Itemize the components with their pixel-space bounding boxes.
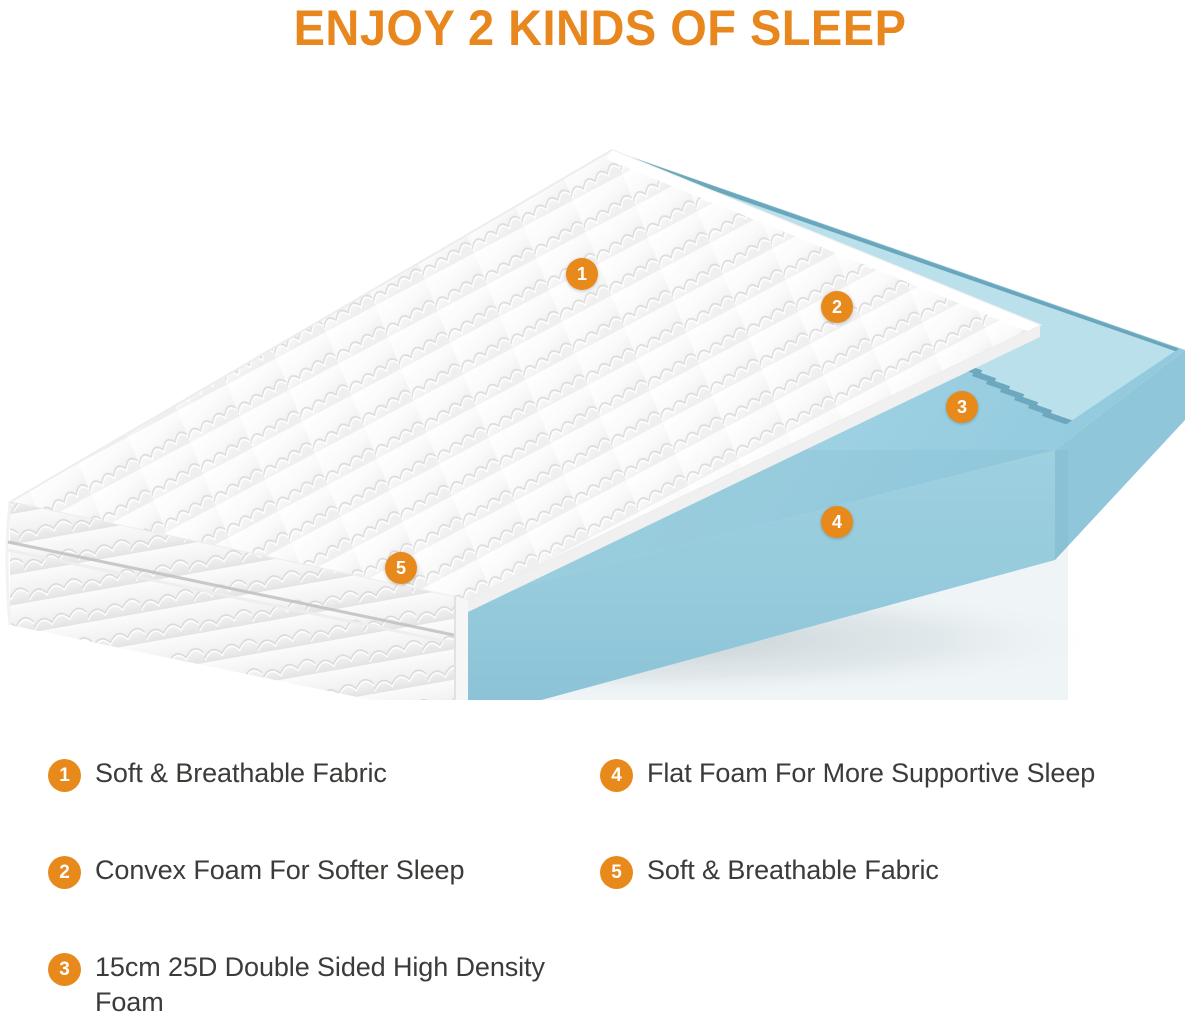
- legend-badge-2: 2: [48, 856, 81, 889]
- callout-badge-5[interactable]: 5: [385, 552, 417, 584]
- mattress-cutaway-svg: [0, 120, 1200, 700]
- legend-badge-3: 3: [48, 953, 81, 986]
- legend-label-2: Convex Foam For Softer Sleep: [95, 853, 464, 888]
- legend-badge-1: 1: [48, 759, 81, 792]
- legend-item-5[interactable]: 5 Soft & Breathable Fabric: [600, 853, 939, 889]
- cover-bottom-edge: [455, 596, 468, 700]
- legend-label-4: Flat Foam For More Supportive Sleep: [647, 756, 1095, 791]
- legend-label-5: Soft & Breathable Fabric: [647, 853, 939, 888]
- mattress-illustration: 1 2 3 4 5: [0, 120, 1200, 700]
- page-title: ENJOY 2 KINDS OF SLEEP: [36, 0, 1164, 56]
- legend: 1 Soft & Breathable Fabric 2 Convex Foam…: [0, 738, 1200, 1020]
- legend-badge-4: 4: [600, 759, 633, 792]
- callout-badge-2[interactable]: 2: [821, 291, 853, 323]
- legend-item-4[interactable]: 4 Flat Foam For More Supportive Sleep: [600, 756, 1095, 792]
- callout-badge-3[interactable]: 3: [946, 391, 978, 423]
- callout-badge-1[interactable]: 1: [566, 258, 598, 290]
- cover-corner-highlight: [7, 502, 10, 625]
- legend-badge-5: 5: [600, 856, 633, 889]
- legend-item-1[interactable]: 1 Soft & Breathable Fabric: [48, 756, 387, 792]
- legend-item-3[interactable]: 3 15cm 25D Double Sided High Density Foa…: [48, 950, 555, 1020]
- legend-item-2[interactable]: 2 Convex Foam For Softer Sleep: [48, 853, 464, 889]
- legend-label-3: 15cm 25D Double Sided High Density Foam: [95, 950, 555, 1020]
- legend-label-1: Soft & Breathable Fabric: [95, 756, 387, 791]
- callout-badge-4[interactable]: 4: [821, 506, 853, 538]
